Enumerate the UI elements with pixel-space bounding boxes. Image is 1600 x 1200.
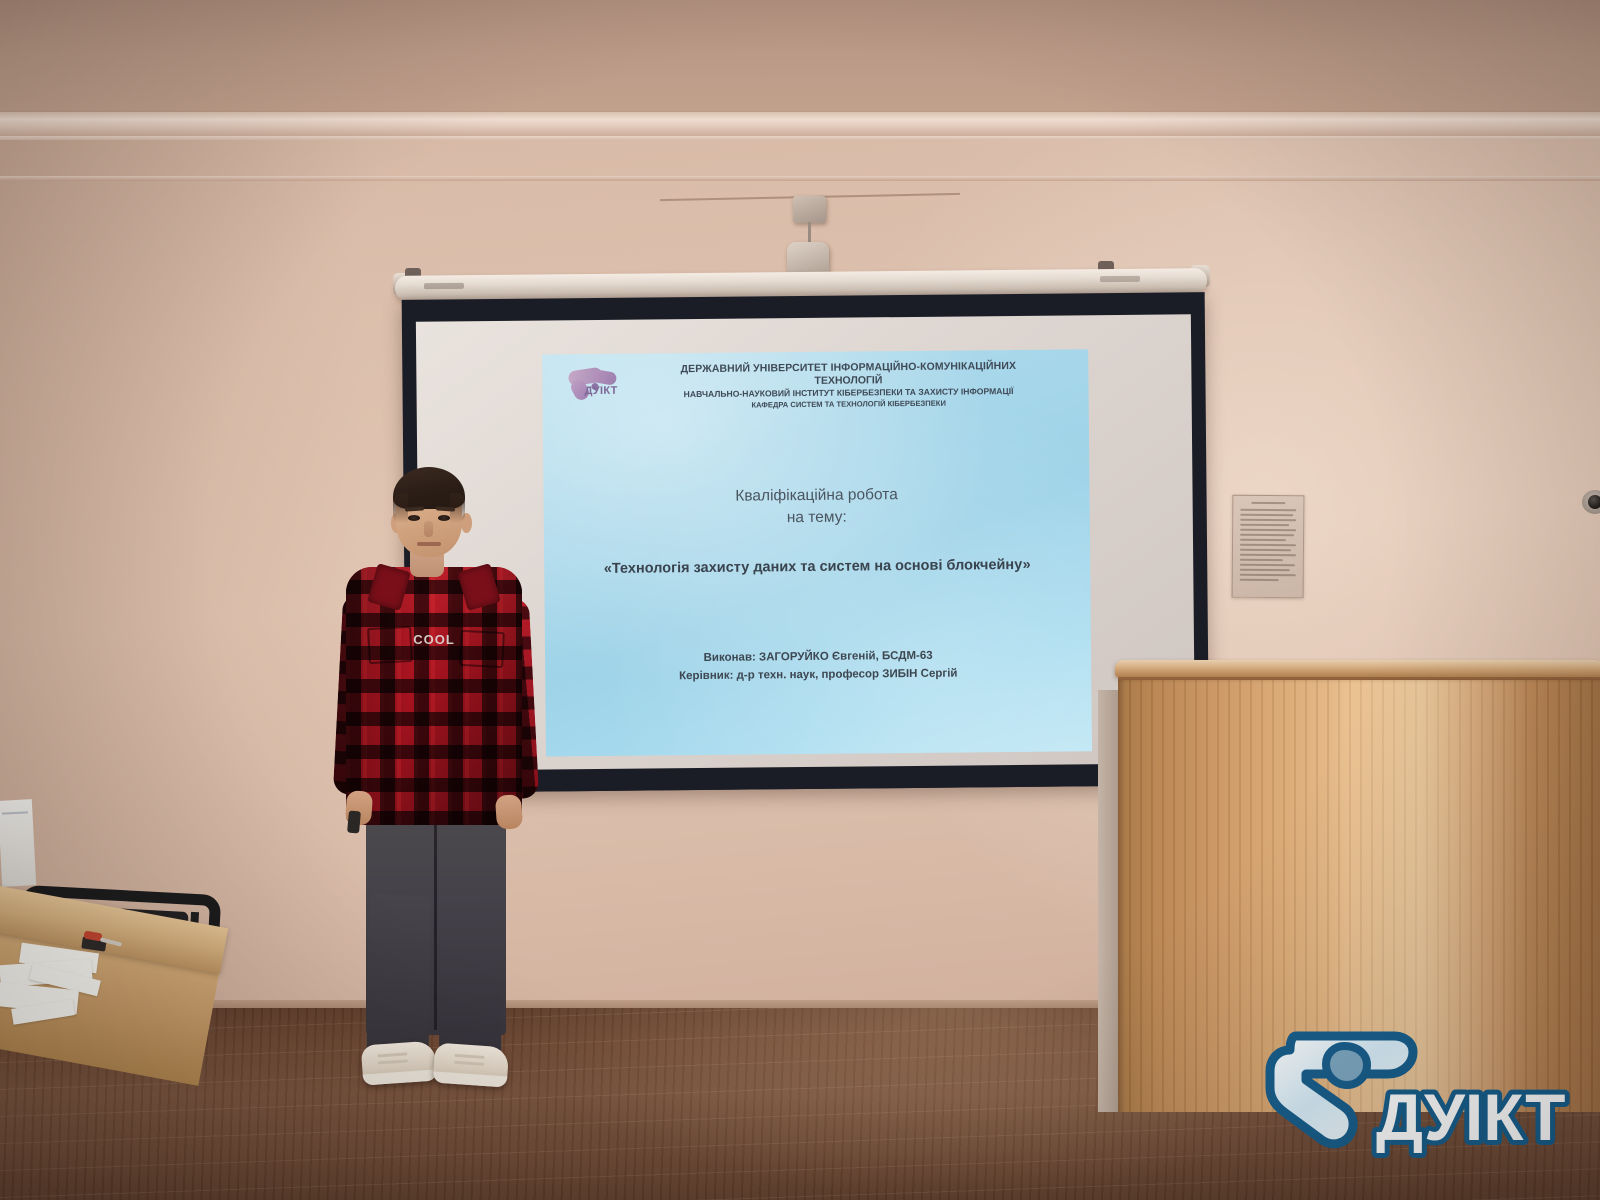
notice-line — [1240, 514, 1293, 516]
camera-lens — [1588, 495, 1600, 509]
podium-left-edge — [1118, 676, 1125, 1112]
notice-line — [1240, 564, 1295, 566]
podium-side-panel — [1098, 690, 1120, 1112]
presentation-slide: ДУІКТ ДЕРЖАВНИЙ УНІВЕРСИТЕТ ІНФОРМАЦІЙНО… — [542, 349, 1092, 756]
shirt-shading — [346, 567, 522, 825]
notice-line — [1240, 574, 1296, 576]
presenter: COOL — [310, 455, 560, 1095]
hand-right — [495, 794, 523, 830]
duikt-logo-small-icon: ДУІКТ — [566, 368, 626, 403]
mouth — [417, 542, 441, 546]
shoe-left — [361, 1040, 438, 1085]
slide-credits: Виконав: ЗАГОРУЙКО Євгеній, БСДМ-63 Кері… — [545, 645, 1091, 686]
shoe-lace — [454, 1061, 484, 1066]
eye-left — [408, 515, 420, 521]
podium-counter-top — [1115, 660, 1600, 677]
shoe-lace — [378, 1059, 408, 1064]
t-shirt-graphic: COOL — [410, 631, 458, 649]
notice-line — [1240, 549, 1291, 551]
notice-line — [1240, 509, 1296, 511]
nose — [424, 521, 433, 537]
shoe-lace — [455, 1054, 485, 1059]
shirt-pocket-right — [459, 630, 505, 668]
casing-label-right — [1100, 276, 1140, 282]
shoe-lace — [377, 1052, 407, 1057]
duikt-logo-large-icon: ДУІКТ — [1248, 1028, 1593, 1188]
eye-right — [438, 515, 450, 521]
plaid-flannel-shirt — [346, 567, 522, 825]
notice-line — [1240, 544, 1296, 546]
trouser-seam — [434, 815, 437, 1030]
notice-line — [1240, 579, 1279, 581]
notice-line — [1240, 554, 1296, 556]
shoe-sole — [363, 1069, 438, 1085]
notice-line — [1240, 534, 1294, 536]
notice-line — [1240, 539, 1286, 541]
notice-line — [1240, 519, 1296, 521]
camera-stem — [808, 222, 811, 244]
junction-box-icon — [793, 196, 826, 223]
classroom-photo-scene: ДУІКТ ДЕРЖАВНИЙ УНІВЕРСИТЕТ ІНФОРМАЦІЙНО… — [0, 0, 1600, 1200]
notice-line — [1240, 569, 1290, 571]
wall-trim-line — [0, 176, 1600, 181]
logo-wordmark: ДУІКТ — [584, 385, 617, 397]
shirt-pocket-left — [367, 626, 413, 664]
watermark-wordmark: ДУІКТ — [1376, 1080, 1565, 1154]
casing-label-left — [424, 283, 464, 289]
shoe-sole — [433, 1071, 508, 1087]
leg-right — [437, 894, 502, 1055]
presentation-clicker — [347, 811, 361, 834]
slide-header-text: ДЕРЖАВНИЙ УНІВЕРСИТЕТ ІНФОРМАЦІЙНО-КОМУН… — [632, 360, 1064, 412]
upper-wall — [0, 0, 1600, 118]
wall-notice-document — [1232, 495, 1305, 599]
slide-title: Кваліфікаційна робота на тему: — [543, 482, 1089, 531]
notice-line — [1240, 529, 1296, 531]
shoe-right — [433, 1042, 510, 1087]
duikt-mark-svg: ДУІКТ — [1248, 1028, 1593, 1188]
notice-title-line — [1252, 502, 1286, 504]
crown-molding — [0, 112, 1600, 138]
slide-header: ДУІКТ ДЕРЖАВНИЙ УНІВЕРСИТЕТ ІНФОРМАЦІЙНО… — [542, 359, 1088, 412]
notice-line — [1240, 524, 1289, 526]
leg-left — [367, 894, 432, 1055]
notice-line — [1240, 559, 1283, 561]
